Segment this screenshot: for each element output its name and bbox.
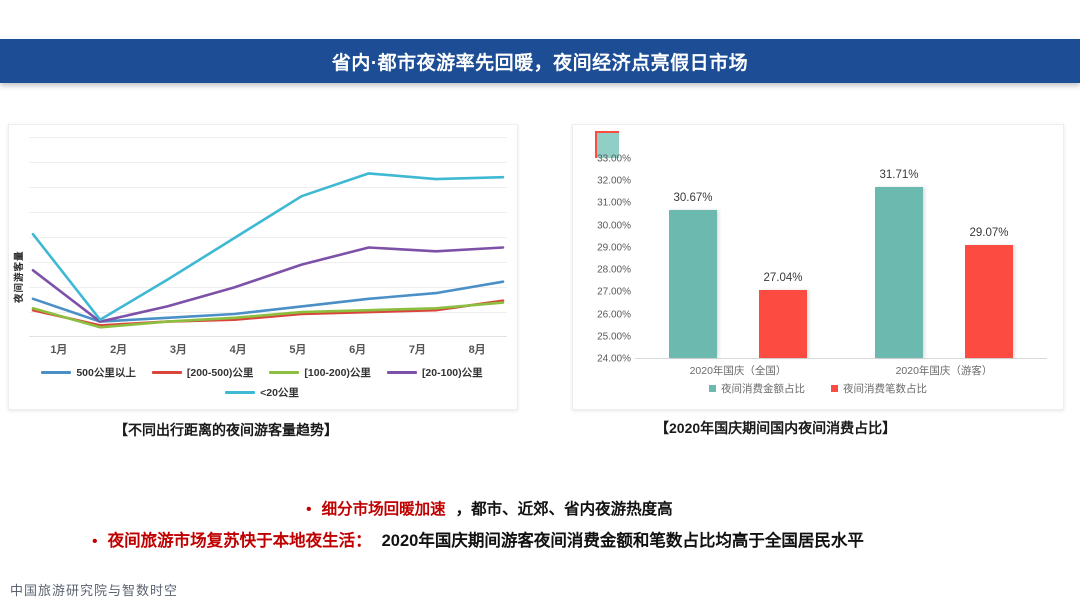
bar-chart-x-tick: 2020年国庆（全国） [635,363,841,378]
slide-footer: 中国旅游研究院与智数时空 [10,580,178,599]
bar-chart-panel: 33.00%32.00%31.00%30.00%29.00%28.00%27.0… [572,124,1064,410]
bar-chart-y-tick: 24.00% [597,354,631,365]
line-chart-x-tick: 7月 [388,341,448,359]
bar-column[interactable]: 27.04% [759,159,807,358]
line-chart-x-tick: 1月 [29,341,89,359]
bar-chart-y-axis: 33.00%32.00%31.00%30.00%29.00%28.00%27.0… [581,159,633,359]
slide-title-bar: 省内·都市夜游率先回暖，夜间经济点亮假日市场 [0,39,1080,83]
bullet-item: • 夜间旅游市场复苏快于本地夜生活： 2020年国庆期间游客夜间消费金额和笔数占… [92,527,864,551]
bar-value-label: 31.71% [879,169,918,181]
bar-rect[interactable] [759,290,807,358]
legend-label: [200-500)公里 [187,365,254,380]
bar-rect[interactable] [669,210,717,358]
bar-column[interactable]: 31.71% [875,159,923,358]
legend-swatch-icon [387,371,417,374]
bullet-item: • 细分市场回暖加速 ，都市、近郊、省内夜游热度高 [306,497,673,519]
legend-label: <20公里 [260,385,299,400]
bar-rect[interactable] [875,187,923,358]
legend-label: 夜间消费笔数占比 [843,381,927,396]
line-chart-x-tick: 5月 [268,341,328,359]
bar-chart-x-axis: 2020年国庆（全国）2020年国庆（游客） [635,363,1047,378]
line-chart-legend-item[interactable]: <20公里 [225,385,299,400]
bullet-marker-icon: • [306,502,312,518]
bar-column[interactable]: 30.67% [669,159,717,358]
legend-label: [100-200)公里 [304,365,371,380]
bar-chart-y-tick: 28.00% [597,265,631,276]
slide-canvas: 省内·都市夜游率先回暖，夜间经济点亮假日市场 夜间游客量 1月2月3月4月5月6… [0,0,1080,608]
line-chart-series-svg [29,137,507,337]
bar-chart-plot-area: 30.67%27.04%31.71%29.07% [635,159,1047,359]
right-chart-caption: 【2020年国庆期间国内夜间消费占比】 [655,418,896,438]
bar-chart-y-tick: 33.00% [597,154,631,165]
legend-label: 夜间消费金额占比 [721,381,805,396]
bar-chart-legend-item[interactable]: 夜间消费金额占比 [709,381,805,396]
bar-value-label: 29.07% [969,227,1008,239]
legend-swatch-icon [709,385,716,392]
line-chart-x-tick: 6月 [328,341,388,359]
line-chart-legend-item[interactable]: [100-200)公里 [269,365,371,380]
legend-swatch-icon [41,371,71,374]
line-chart-x-tick: 4月 [208,341,268,359]
line-chart-y-axis-label: 夜间游客量 [11,250,25,303]
bullet-highlight-text: 夜间旅游市场复苏快于本地夜生活： [108,527,372,551]
bar-chart-y-tick: 29.00% [597,242,631,253]
bullet-body-text: 2020年国庆期间游客夜间消费金额和笔数占比均高于全国居民水平 [382,527,864,551]
bar-rect[interactable] [965,245,1013,358]
bar-value-label: 27.04% [763,272,802,284]
bar-chart-y-tick: 30.00% [597,220,631,231]
line-chart-x-tick: 8月 [447,341,507,359]
legend-swatch-icon [831,385,838,392]
bar-chart-x-tick: 2020年国庆（游客） [841,363,1047,378]
bar-chart-legend-item[interactable]: 夜间消费笔数占比 [831,381,927,396]
legend-swatch-icon [152,371,182,374]
bar-chart-y-tick: 26.00% [597,309,631,320]
line-chart-legend: 500公里以上[200-500)公里[100-200)公里[20-100)公里<… [37,365,487,400]
bar-group: 30.67%27.04% [635,159,841,358]
legend-swatch-icon [225,391,255,394]
legend-swatch-icon [269,371,299,374]
bar-value-label: 30.67% [673,192,712,204]
bullet-body-text: ，都市、近郊、省内夜游热度高 [456,497,673,519]
bar-chart-y-tick: 27.00% [597,287,631,298]
line-chart-x-tick: 3月 [149,341,209,359]
bar-column[interactable]: 29.07% [965,159,1013,358]
bar-chart-y-tick: 31.00% [597,198,631,209]
line-chart-x-tick: 2月 [89,341,149,359]
line-chart-x-axis: 1月2月3月4月5月6月7月8月 [29,341,507,359]
bar-chart-y-tick: 25.00% [597,331,631,342]
bar-chart-y-tick: 32.00% [597,176,631,187]
left-chart-caption: 【不同出行距离的夜间游客量趋势】 [114,420,338,440]
line-chart-legend-item[interactable]: [200-500)公里 [152,365,254,380]
bullet-highlight-text: 细分市场回暖加速 [322,497,446,519]
bar-chart-legend: 夜间消费金额占比夜间消费笔数占比 [573,381,1063,396]
bar-group: 31.71%29.07% [841,159,1047,358]
line-chart-legend-item[interactable]: [20-100)公里 [387,365,483,380]
bullet-marker-icon: • [92,534,98,550]
legend-label: [20-100)公里 [422,365,483,380]
line-chart-panel: 夜间游客量 1月2月3月4月5月6月7月8月 500公里以上[200-500)公… [8,124,518,410]
line-chart-legend-item[interactable]: 500公里以上 [41,365,136,380]
legend-label: 500公里以上 [76,365,136,380]
page-title: 省内·都市夜游率先回暖，夜间经济点亮假日市场 [332,48,748,75]
line-chart-plot-area [29,137,507,337]
